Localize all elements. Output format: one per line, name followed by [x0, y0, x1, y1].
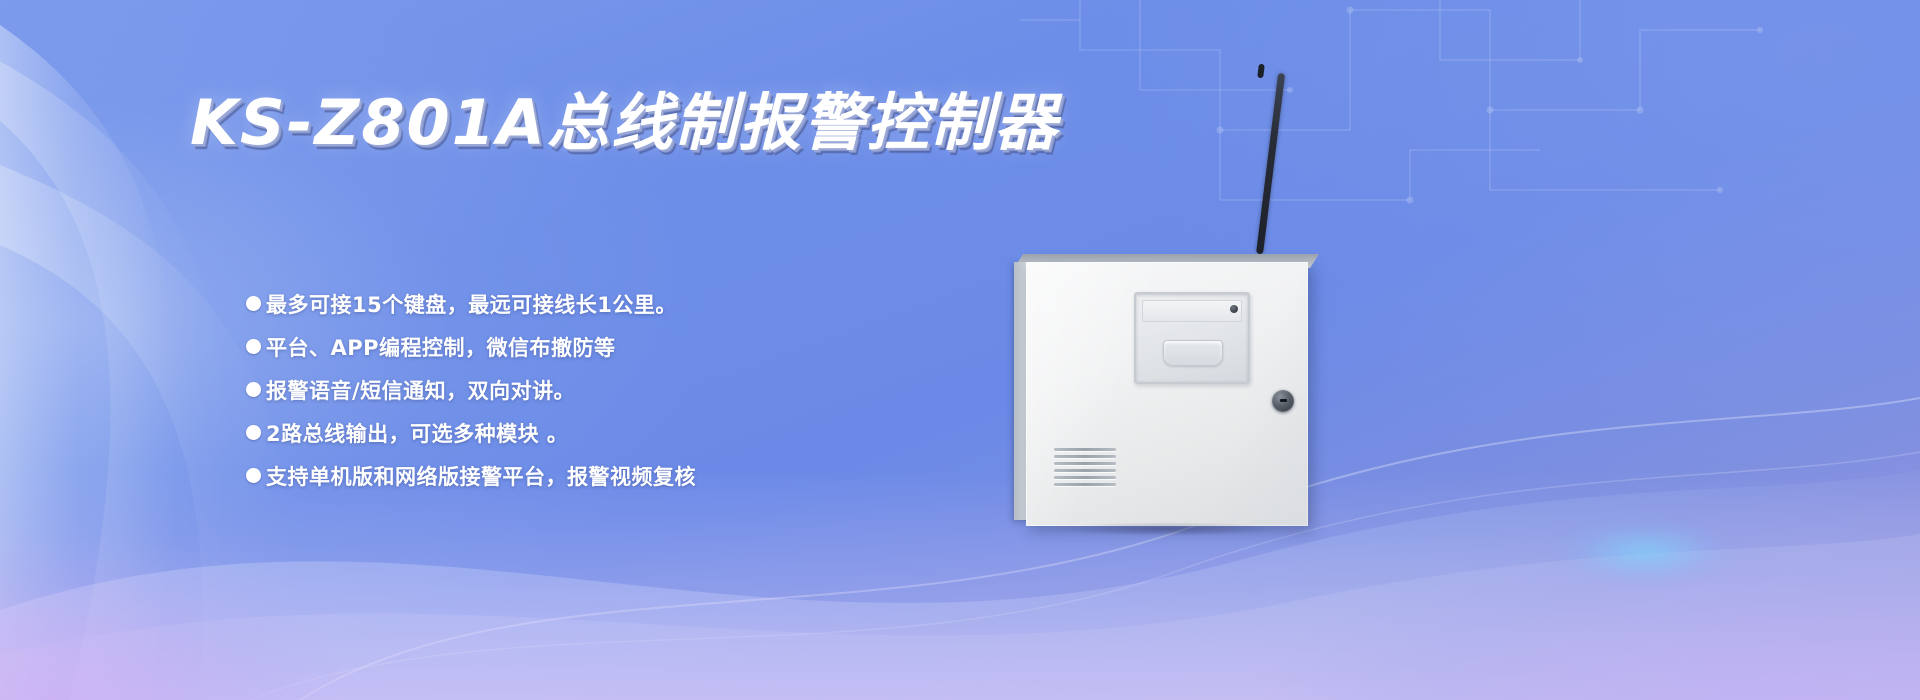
vent-line	[1054, 476, 1116, 479]
product-image-alarm-control-panel	[1014, 246, 1324, 536]
bullet-dot-icon	[246, 425, 261, 440]
feature-text: 最多可接15个键盘，最远可接线长1公里。	[266, 289, 677, 319]
product-promo-banner: KS-Z801A总线制报警控制器 最多可接15个键盘，最远可接线长1公里。 平台…	[0, 0, 1920, 700]
keyhole-slot	[1280, 399, 1287, 402]
product-title: KS-Z801A总线制报警控制器	[190, 72, 1059, 162]
cyan-light-spark	[1520, 492, 1770, 612]
antenna-tip-icon	[1257, 64, 1265, 79]
bullet-dot-icon	[246, 382, 261, 397]
status-led-icon	[1230, 305, 1238, 313]
display-window	[1134, 292, 1250, 384]
vent-line	[1054, 469, 1116, 472]
product-drop-shadow	[1020, 520, 1316, 538]
feature-text: 2路总线输出，可选多种模块 。	[266, 418, 568, 448]
bullet-dot-icon	[246, 468, 261, 483]
feature-text: 支持单机版和网络版接警平台，报警视频复核	[266, 461, 696, 491]
feature-item: 2路总线输出，可选多种模块 。	[246, 411, 696, 454]
bullet-dot-icon	[246, 296, 261, 311]
feature-item: 支持单机版和网络版接警平台，报警视频复核	[246, 454, 696, 497]
feature-item: 报警语音/短信通知，双向对讲。	[246, 368, 696, 411]
vent-line	[1054, 483, 1116, 486]
display-strip	[1142, 300, 1242, 322]
enclosure-front-face	[1026, 262, 1308, 526]
keyhole-lock-icon	[1272, 390, 1294, 412]
bottom-glow	[0, 470, 1920, 700]
feature-text: 平台、APP编程控制，微信布撤防等	[266, 332, 616, 362]
vent-line	[1054, 455, 1116, 458]
vent-line	[1054, 448, 1116, 451]
feature-item: 平台、APP编程控制，微信布撤防等	[246, 325, 696, 368]
ventilation-slots	[1054, 448, 1116, 486]
feature-list: 最多可接15个键盘，最远可接线长1公里。 平台、APP编程控制，微信布撤防等 报…	[246, 282, 696, 497]
feature-text: 报警语音/短信通知，双向对讲。	[266, 375, 575, 405]
feature-item: 最多可接15个键盘，最远可接线长1公里。	[246, 282, 696, 325]
antenna-icon	[1256, 73, 1285, 254]
door-handle-icon	[1163, 340, 1223, 366]
bullet-dot-icon	[246, 339, 261, 354]
banner-title-wrap: KS-Z801A总线制报警控制器	[190, 72, 1059, 162]
vent-line	[1054, 462, 1116, 465]
